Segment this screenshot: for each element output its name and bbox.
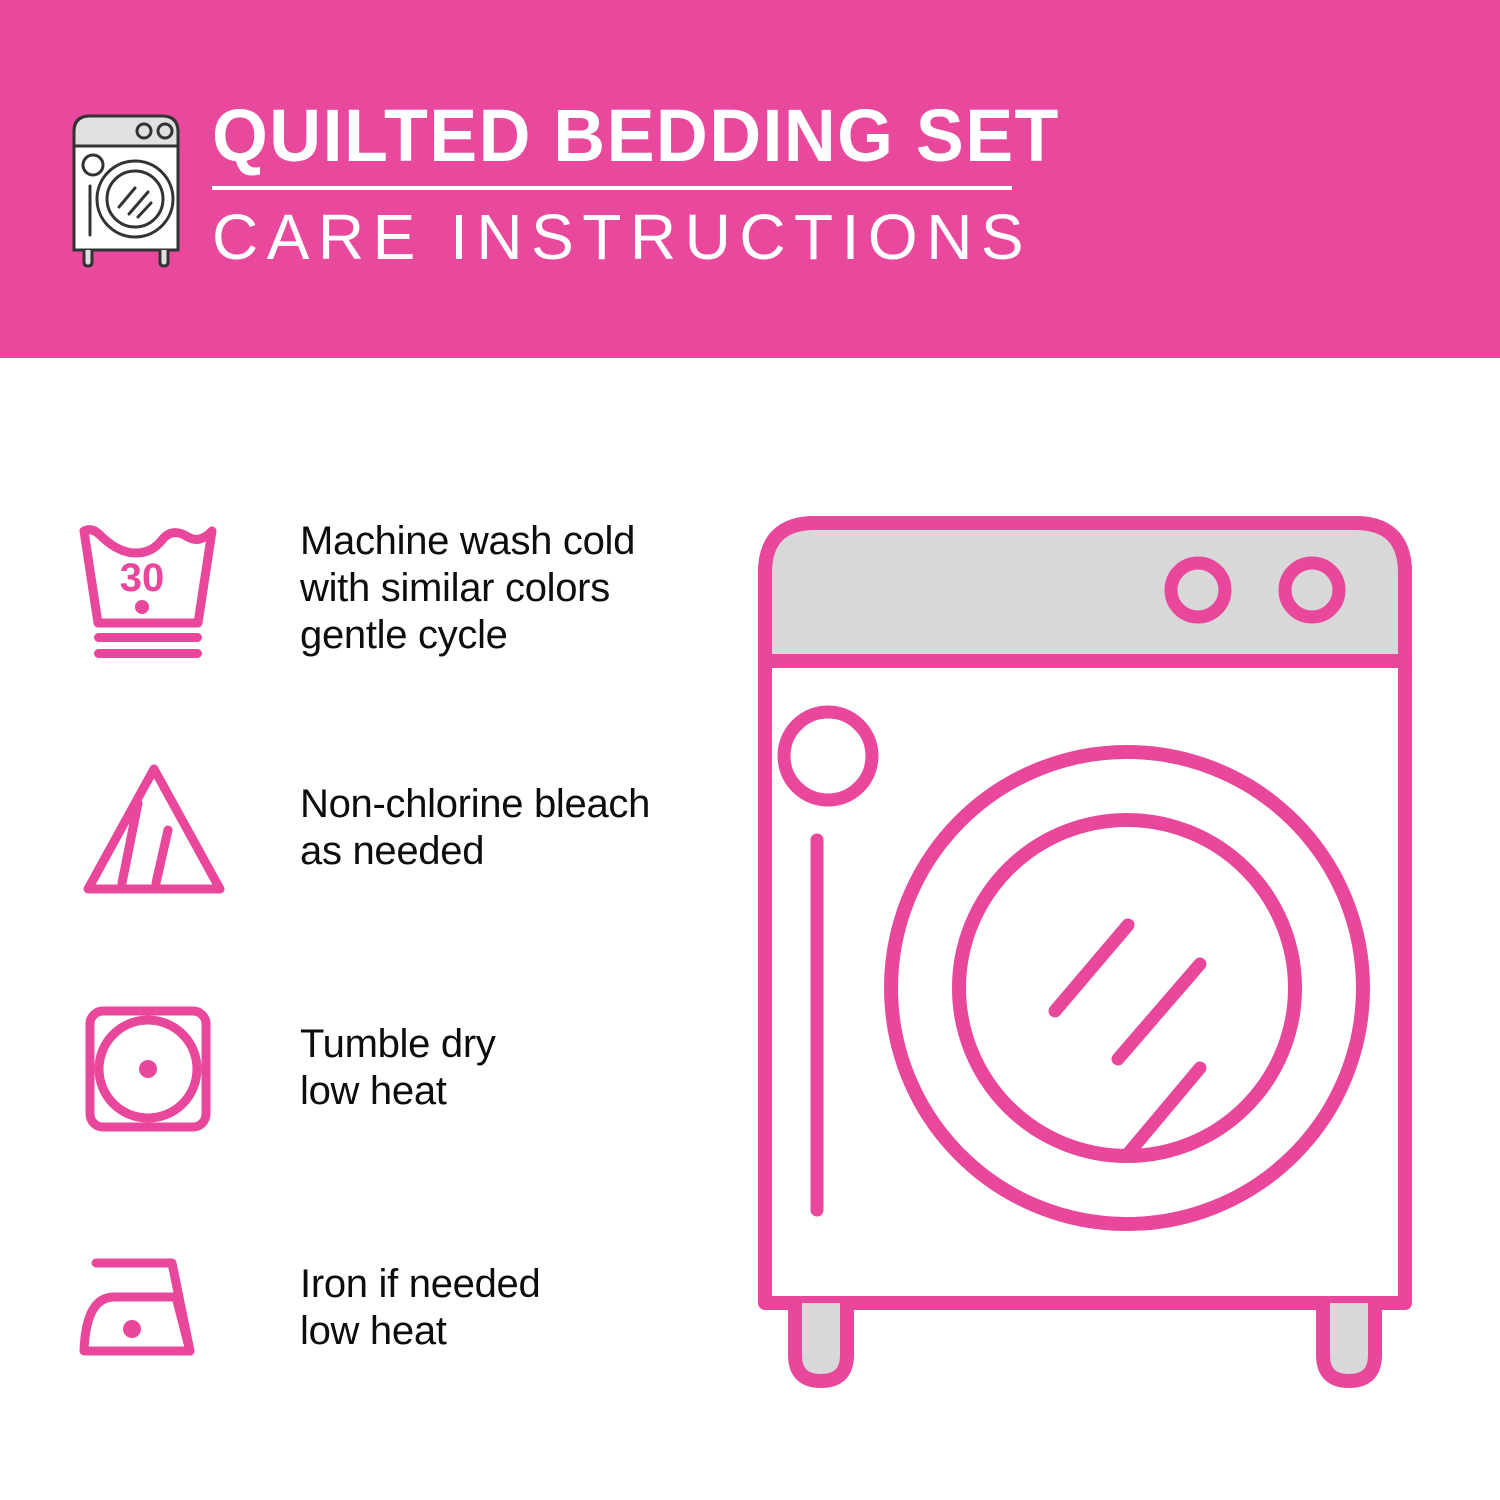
triangle-non-chlorine-bleach-icon	[70, 743, 250, 913]
care-row-machine-wash: 30 Machine wash cold with similar colors…	[70, 498, 710, 678]
care-instruction-list: 30 Machine wash cold with similar colors…	[70, 498, 710, 1398]
header-content: QUILTED BEDDING SET CARE INSTRUCTIONS	[62, 96, 1086, 272]
page-header: QUILTED BEDDING SET CARE INSTRUCTIONS	[0, 0, 1500, 358]
care-label-machine-wash: Machine wash cold with similar colors ge…	[300, 518, 635, 659]
page-subtitle: CARE INSTRUCTIONS	[212, 202, 1086, 272]
front-load-washing-machine-illustration	[735, 498, 1455, 1438]
iron-low-heat-icon	[70, 1223, 250, 1393]
care-row-tumble-dry: Tumble dry low heat	[70, 978, 710, 1158]
tumble-dry-low-heat-icon	[70, 983, 250, 1153]
wash-basin-30-gentle-icon: 30	[70, 503, 250, 673]
title-divider	[212, 186, 1012, 190]
care-row-iron: Iron if needed low heat	[70, 1218, 710, 1398]
care-label-bleach: Non-chlorine bleach as needed	[300, 781, 650, 875]
page-title: QUILTED BEDDING SET	[212, 96, 1060, 176]
main-content: 30 Machine wash cold with similar colors…	[0, 358, 1500, 1500]
care-row-bleach: Non-chlorine bleach as needed	[70, 738, 710, 918]
care-label-iron: Iron if needed low heat	[300, 1261, 540, 1355]
care-label-tumble-dry: Tumble dry low heat	[300, 1021, 496, 1115]
washing-machine-icon	[62, 102, 190, 266]
title-block: QUILTED BEDDING SET CARE INSTRUCTIONS	[212, 96, 1086, 272]
svg-text:30: 30	[120, 556, 165, 600]
